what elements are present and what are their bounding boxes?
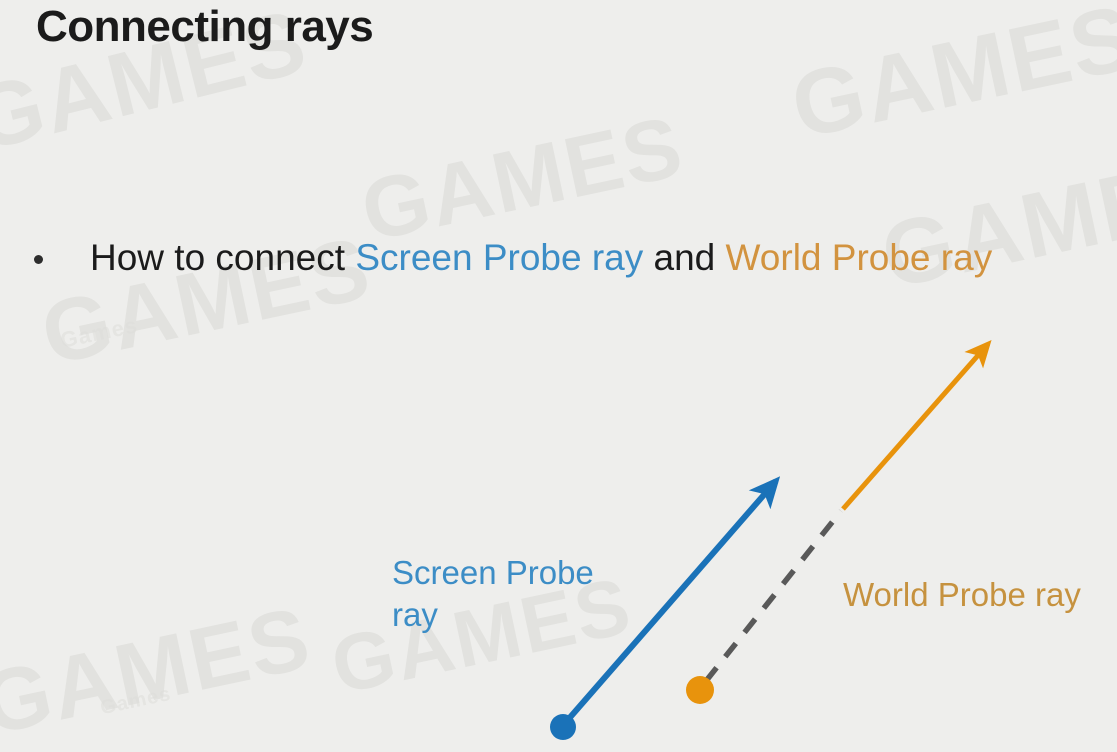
screen-probe-label-line2: ray	[392, 594, 627, 636]
screen-probe-origin-dot	[550, 714, 576, 740]
world-probe-ray-arrow	[843, 344, 988, 509]
ray-diagram	[0, 0, 1117, 752]
slide-canvas: GAMES GAMES GAMES GAMES GAMES GAMES GAME…	[0, 0, 1117, 752]
world-probe-origin-dot	[686, 676, 714, 704]
screen-probe-ray-label: Screen Probe ray	[392, 552, 627, 636]
screen-probe-label-line1: Screen Probe	[392, 552, 627, 594]
world-probe-ray-label: World Probe ray	[843, 574, 1113, 616]
